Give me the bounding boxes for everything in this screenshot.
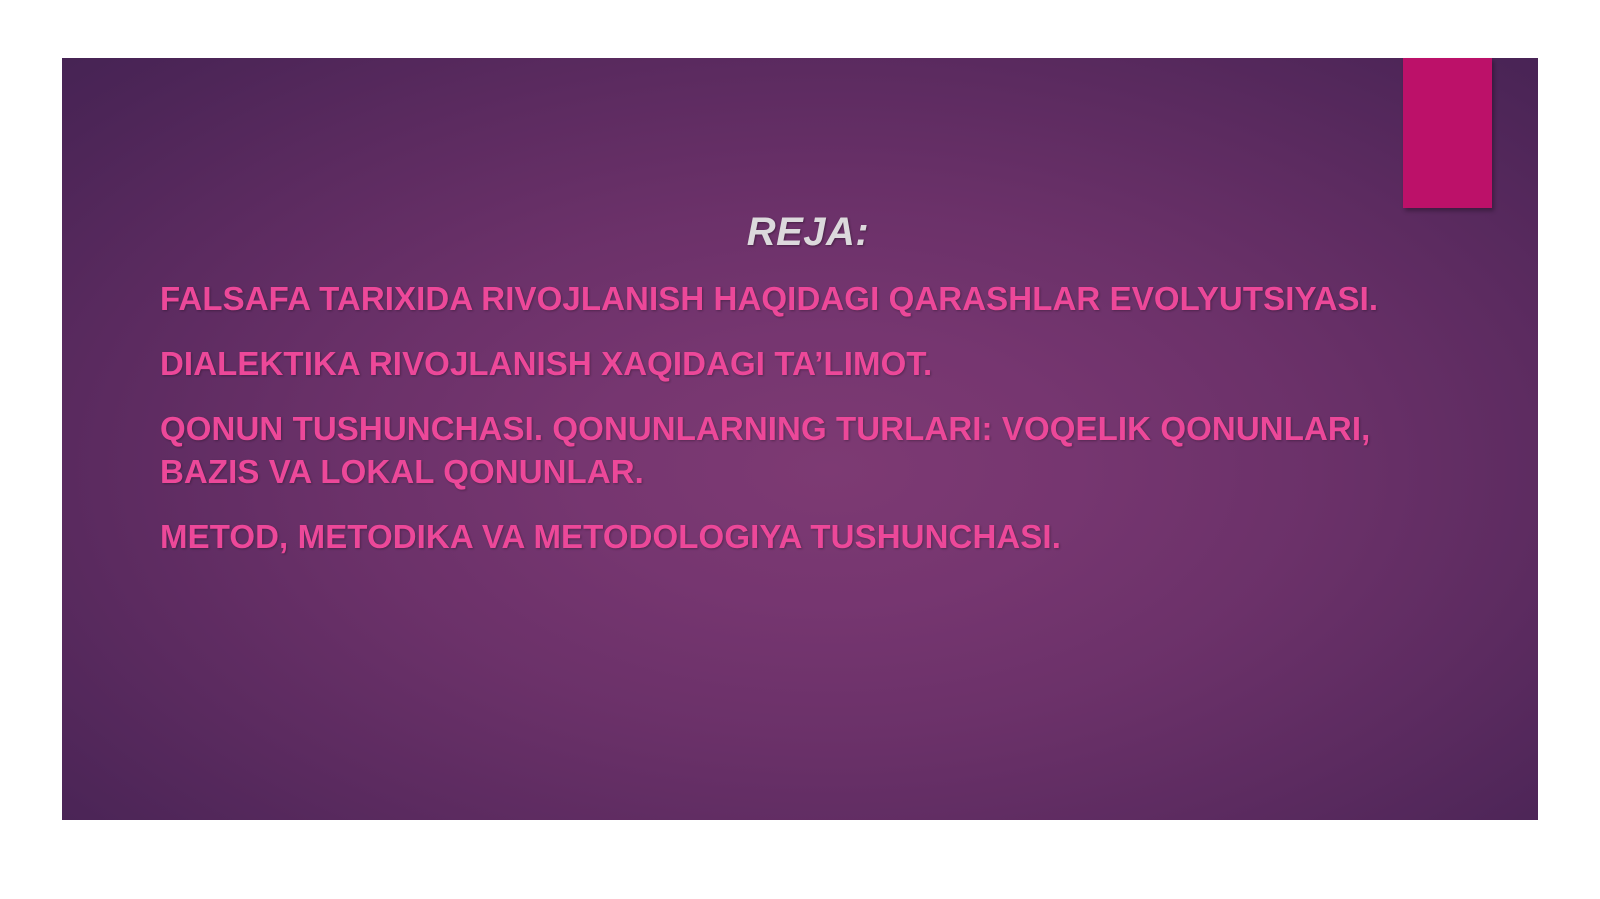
slide-content: REJA: FALSAFA TARIXIDA RIVOJLANISH HAQID… [160,210,1450,558]
accent-bar-decoration [1403,58,1492,208]
bullet-item-4: METOD, METODIKA VA METODOLOGIYA TUSHUNCH… [160,516,1450,559]
bullet-item-3: QONUN TUSHUNCHASI. QONUNLARNING TURLARI:… [160,408,1450,494]
bullet-item-2: DIALEKTIKA RIVOJLANISH XAQIDAGI TA’LIMOT… [160,343,1450,386]
bullet-item-1: FALSAFA TARIXIDA RIVOJLANISH HAQIDAGI QA… [160,278,1450,321]
slide-canvas: REJA: FALSAFA TARIXIDA RIVOJLANISH HAQID… [62,58,1538,820]
page-title: REJA: [160,210,1450,254]
